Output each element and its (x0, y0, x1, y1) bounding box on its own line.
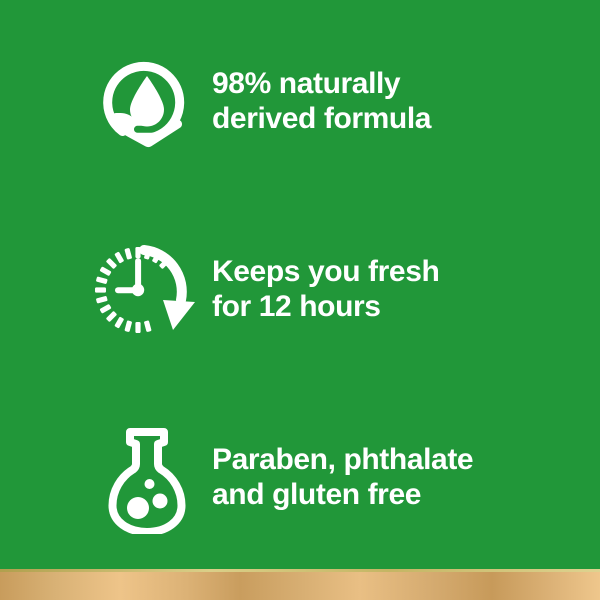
feature-item-free-from: Paraben, phthalate and gluten free (0, 384, 600, 572)
feature-list: 98% naturally derived formula (0, 0, 600, 572)
feature-label-long-lasting: Keeps you fresh for 12 hours (212, 255, 439, 325)
product-benefits-panel: 98% naturally derived formula (0, 0, 600, 600)
feature-item-natural-formula: 98% naturally derived formula (0, 8, 600, 196)
feature-label-free-from: Paraben, phthalate and gluten free (212, 443, 473, 513)
water-drop-in-hand-circle-icon (88, 52, 206, 152)
clock-with-clockwise-arrow-icon (88, 238, 206, 342)
laboratory-flask-with-bubbles-icon (88, 422, 206, 534)
feature-item-long-lasting: Keeps you fresh for 12 hours (0, 196, 600, 384)
gold-gradient-band (0, 572, 600, 600)
feature-label-natural-formula: 98% naturally derived formula (212, 67, 431, 137)
